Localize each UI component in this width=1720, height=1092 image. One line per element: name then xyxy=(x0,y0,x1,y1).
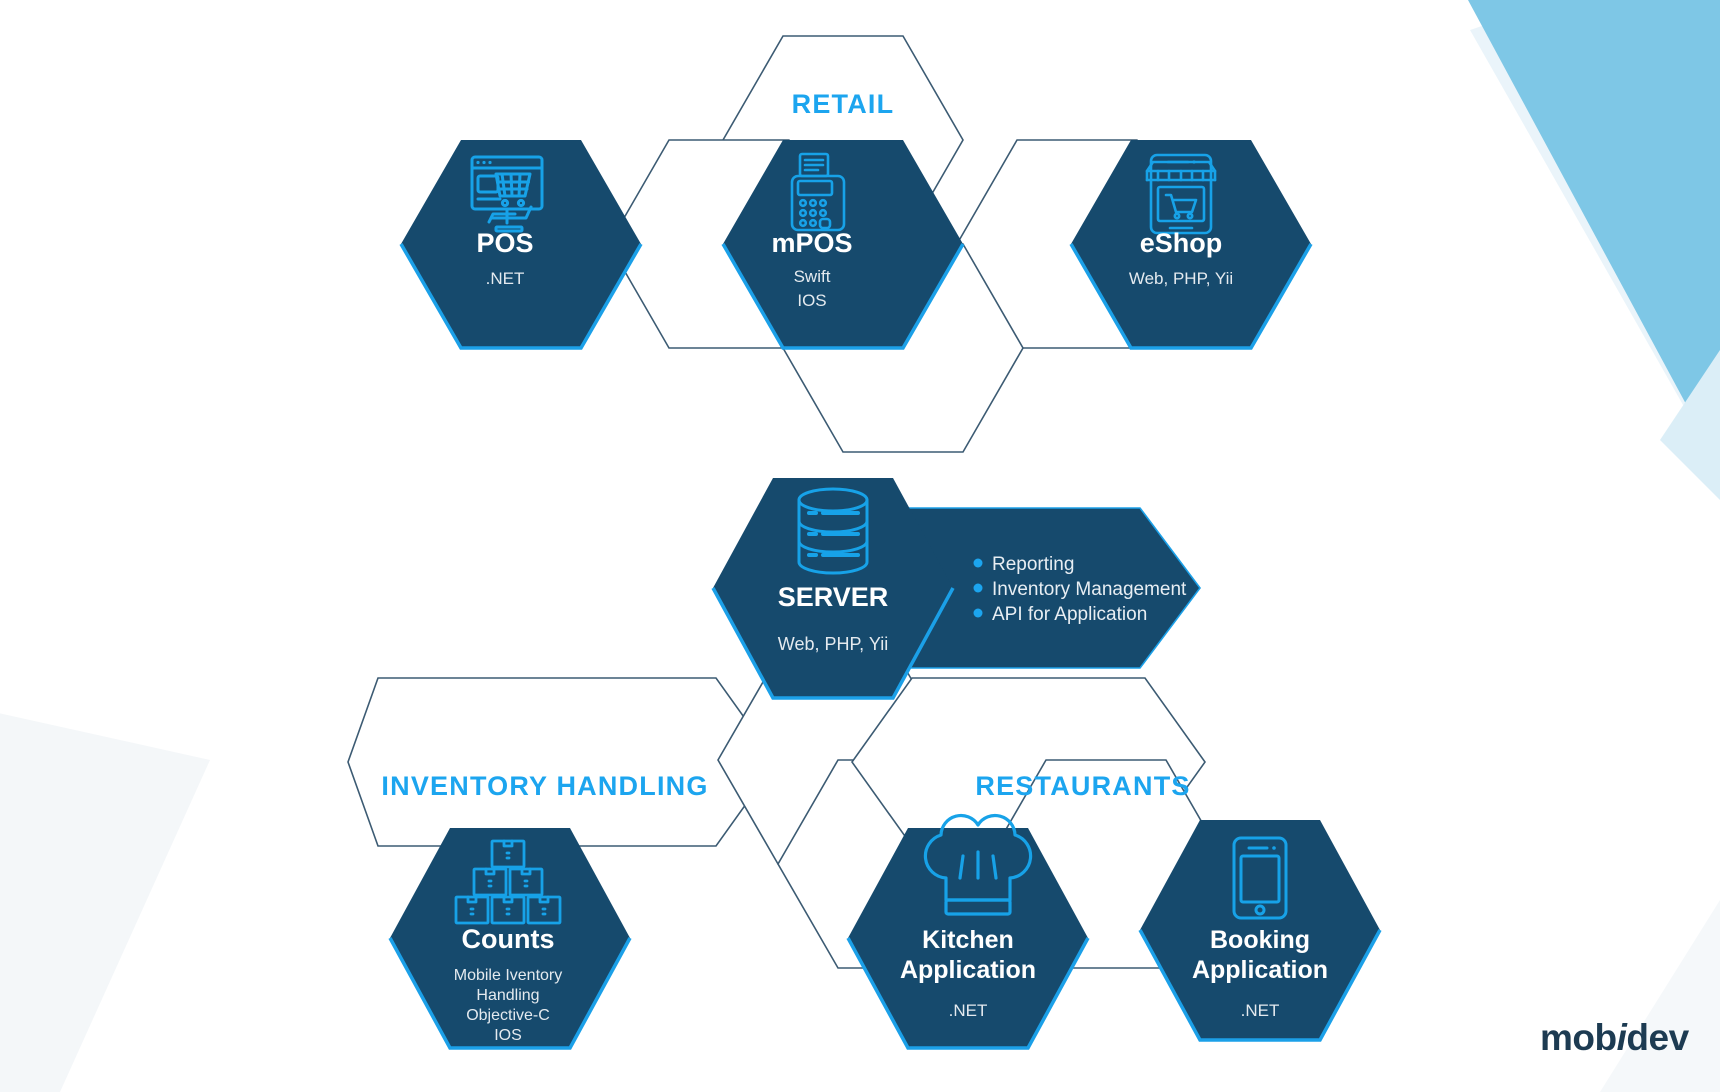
bullet-dot-1 xyxy=(974,584,983,593)
server-feature-2: API for Application xyxy=(992,604,1147,625)
node-mpos-title: mPOS xyxy=(771,228,852,258)
logo-part1: mob xyxy=(1540,1017,1617,1058)
node-booking-subtitle-0: .NET xyxy=(1241,1001,1280,1020)
category-label-retail: RETAIL xyxy=(792,89,895,119)
category-label-restaurants: RESTAURANTS xyxy=(975,771,1190,801)
node-counts-subtitle-2: Objective-C xyxy=(466,1007,550,1024)
logo-mobidev: mobidev xyxy=(1540,1017,1690,1058)
server-feature-1: Inventory Management xyxy=(992,579,1187,600)
logo-part2: dev xyxy=(1626,1017,1689,1058)
node-kitchen-title-1: Application xyxy=(900,956,1036,984)
node-server-title: SERVER xyxy=(778,582,889,612)
category-hex-inventory-handling xyxy=(348,678,776,846)
node-eshop-title: eShop xyxy=(1140,228,1223,258)
node-mpos-subtitle-0: Swift xyxy=(794,267,831,286)
bullet-dot-2 xyxy=(974,609,983,618)
node-counts-subtitle-3: IOS xyxy=(494,1027,522,1044)
node-mpos-subtitle-1: IOS xyxy=(797,291,826,310)
diagram-canvas: POS .NET mPOS Swift IOS xyxy=(0,0,1720,1092)
node-kitchen-title-0: Kitchen xyxy=(922,926,1014,954)
node-kitchen-subtitle-0: .NET xyxy=(949,1001,988,1020)
node-booking-title-1: Application xyxy=(1192,956,1328,984)
node-pos-subtitle-0: .NET xyxy=(486,269,525,288)
category-label-inventory-handling: INVENTORY HANDLING xyxy=(381,771,708,801)
node-pos-title: POS xyxy=(476,228,533,258)
node-booking-title-0: Booking xyxy=(1210,926,1310,954)
node-eshop-subtitle-0: Web, PHP, Yii xyxy=(1129,269,1233,288)
node-counts-subtitle-0: Mobile Iventory xyxy=(454,967,563,984)
server-feature-0: Reporting xyxy=(992,554,1074,575)
node-counts-subtitle-1: Handling xyxy=(476,987,539,1004)
bullet-dot-0 xyxy=(974,559,983,568)
node-server-subtitle-0: Web, PHP, Yii xyxy=(778,634,888,654)
node-counts-title: Counts xyxy=(462,924,555,954)
